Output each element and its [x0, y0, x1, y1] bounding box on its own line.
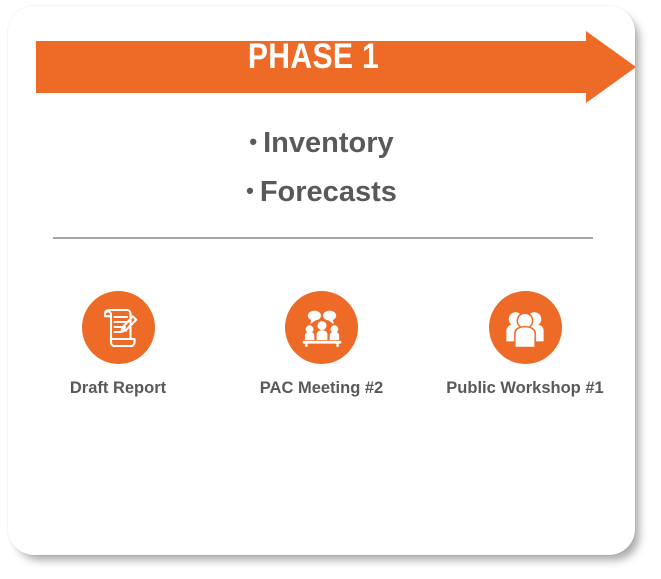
- icon-badge[interactable]: [82, 291, 155, 364]
- phase-1-card: PHASE 1 •Inventory •Forecasts: [8, 6, 635, 555]
- milestone-label: Public Workshop #1: [446, 379, 603, 398]
- phase-title: PHASE 1: [75, 31, 552, 83]
- icon-badge[interactable]: [285, 291, 358, 364]
- list-item: •Inventory: [8, 118, 635, 167]
- icon-badge[interactable]: [489, 291, 562, 364]
- milestone-pac-meeting[interactable]: PAC Meeting #2: [222, 291, 422, 398]
- milestone-public-workshop[interactable]: Public Workshop #1: [425, 291, 625, 398]
- phase-bullet-list: •Inventory •Forecasts: [8, 118, 635, 216]
- bullet-dot-icon: •: [249, 118, 257, 166]
- meeting-people-icon: [298, 304, 346, 352]
- milestone-label: Draft Report: [70, 379, 166, 398]
- document-pencil-icon: [94, 304, 142, 352]
- bullet-dot-icon: •: [246, 167, 254, 215]
- milestone-draft-report[interactable]: Draft Report: [18, 291, 218, 398]
- section-divider: [53, 237, 593, 239]
- bullet-label: Forecasts: [260, 176, 397, 208]
- bullet-label: Inventory: [263, 127, 394, 159]
- milestone-label: PAC Meeting #2: [260, 379, 383, 398]
- group-people-icon: [502, 305, 548, 351]
- milestone-row: Draft Report: [18, 291, 625, 398]
- phase-graphic: PHASE 1 •Inventory •Forecasts: [0, 0, 661, 579]
- list-item: •Forecasts: [8, 167, 635, 216]
